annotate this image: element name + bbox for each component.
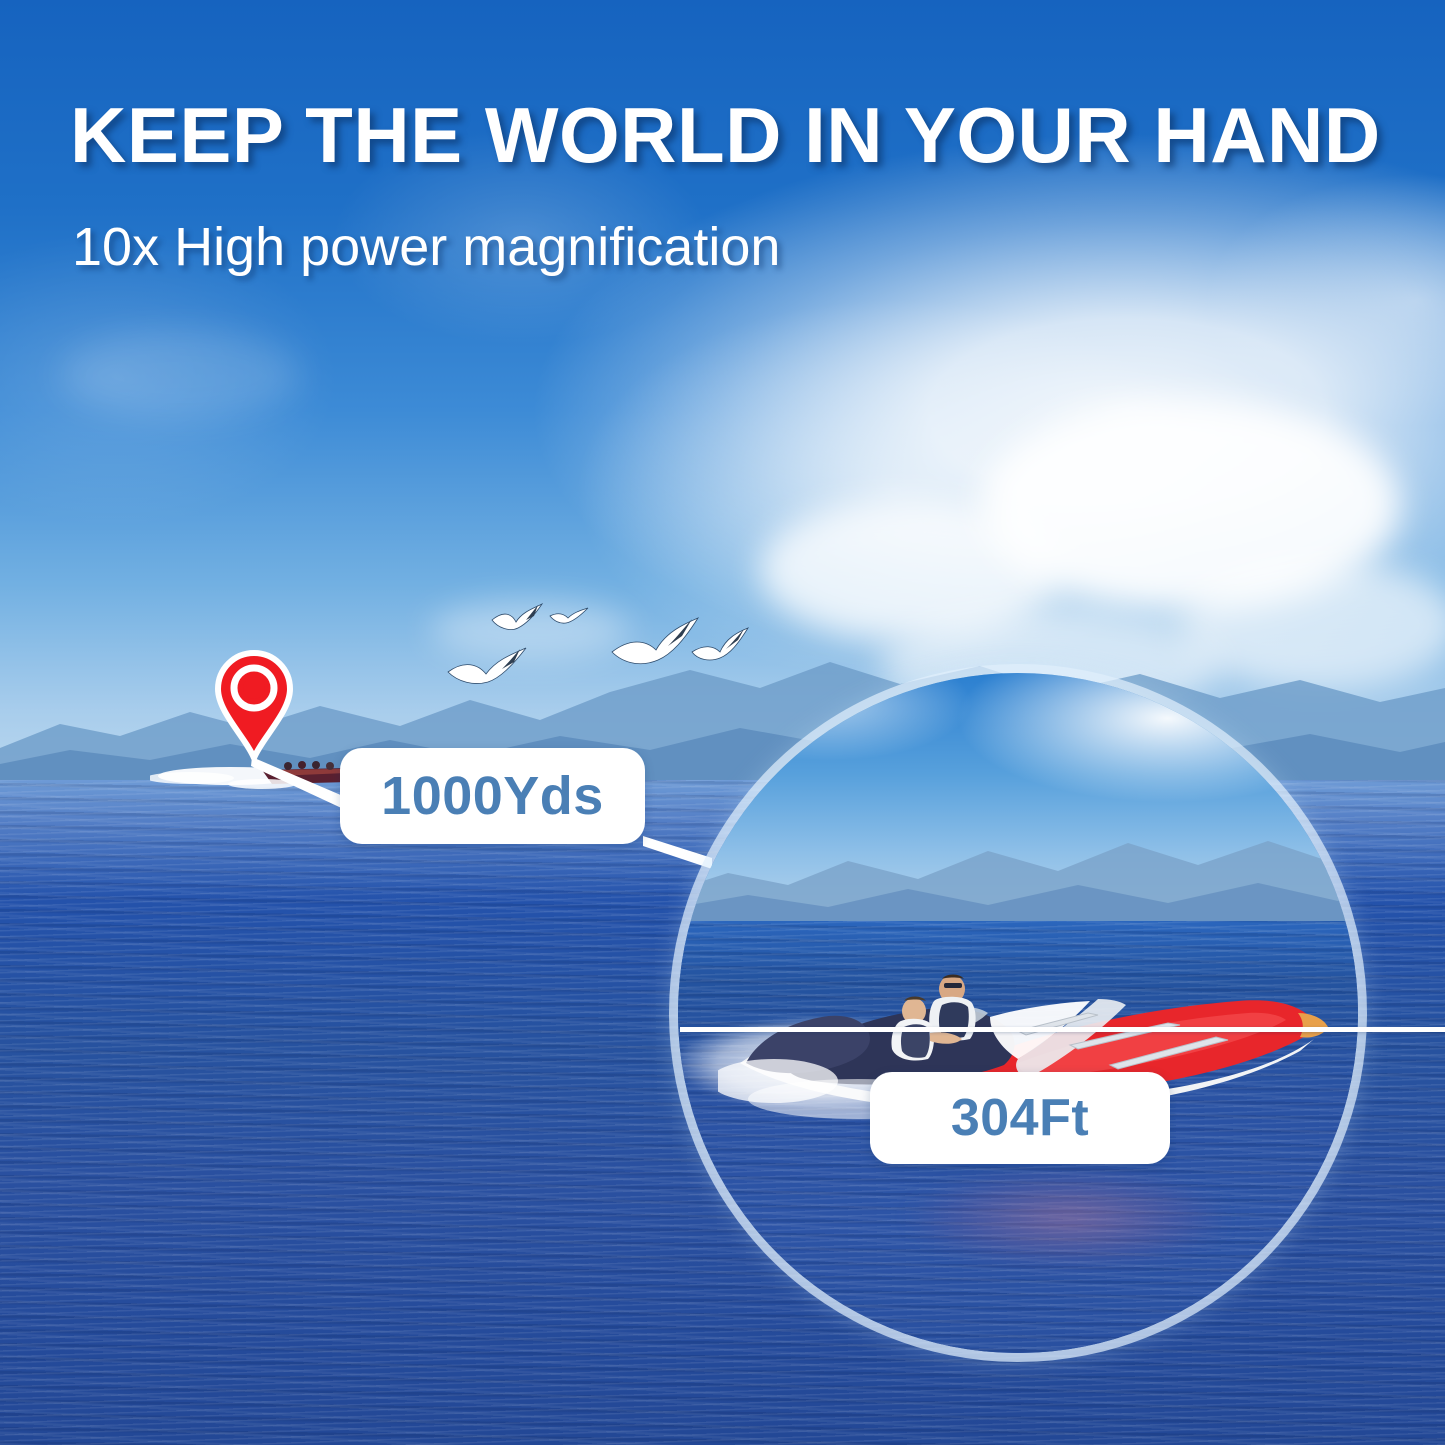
page-subtitle: 10x High power magnification	[72, 216, 1272, 278]
map-pin-icon[interactable]	[213, 650, 295, 762]
page-title: KEEP THE WORLD IN YOUR HAND	[70, 96, 1390, 176]
distance-label: 1000Yds	[340, 748, 645, 844]
magnifier-circle	[678, 673, 1358, 1353]
boat-water-reflection	[858, 1143, 1278, 1293]
product-feature-banner: 1000Yds 304Ft KEEP THE WORLD IN YOUR HAN…	[0, 0, 1445, 1445]
size-measurement-line	[680, 1027, 1445, 1032]
cloud-wisp	[60, 330, 300, 420]
object-size-label: 304Ft	[870, 1072, 1170, 1164]
